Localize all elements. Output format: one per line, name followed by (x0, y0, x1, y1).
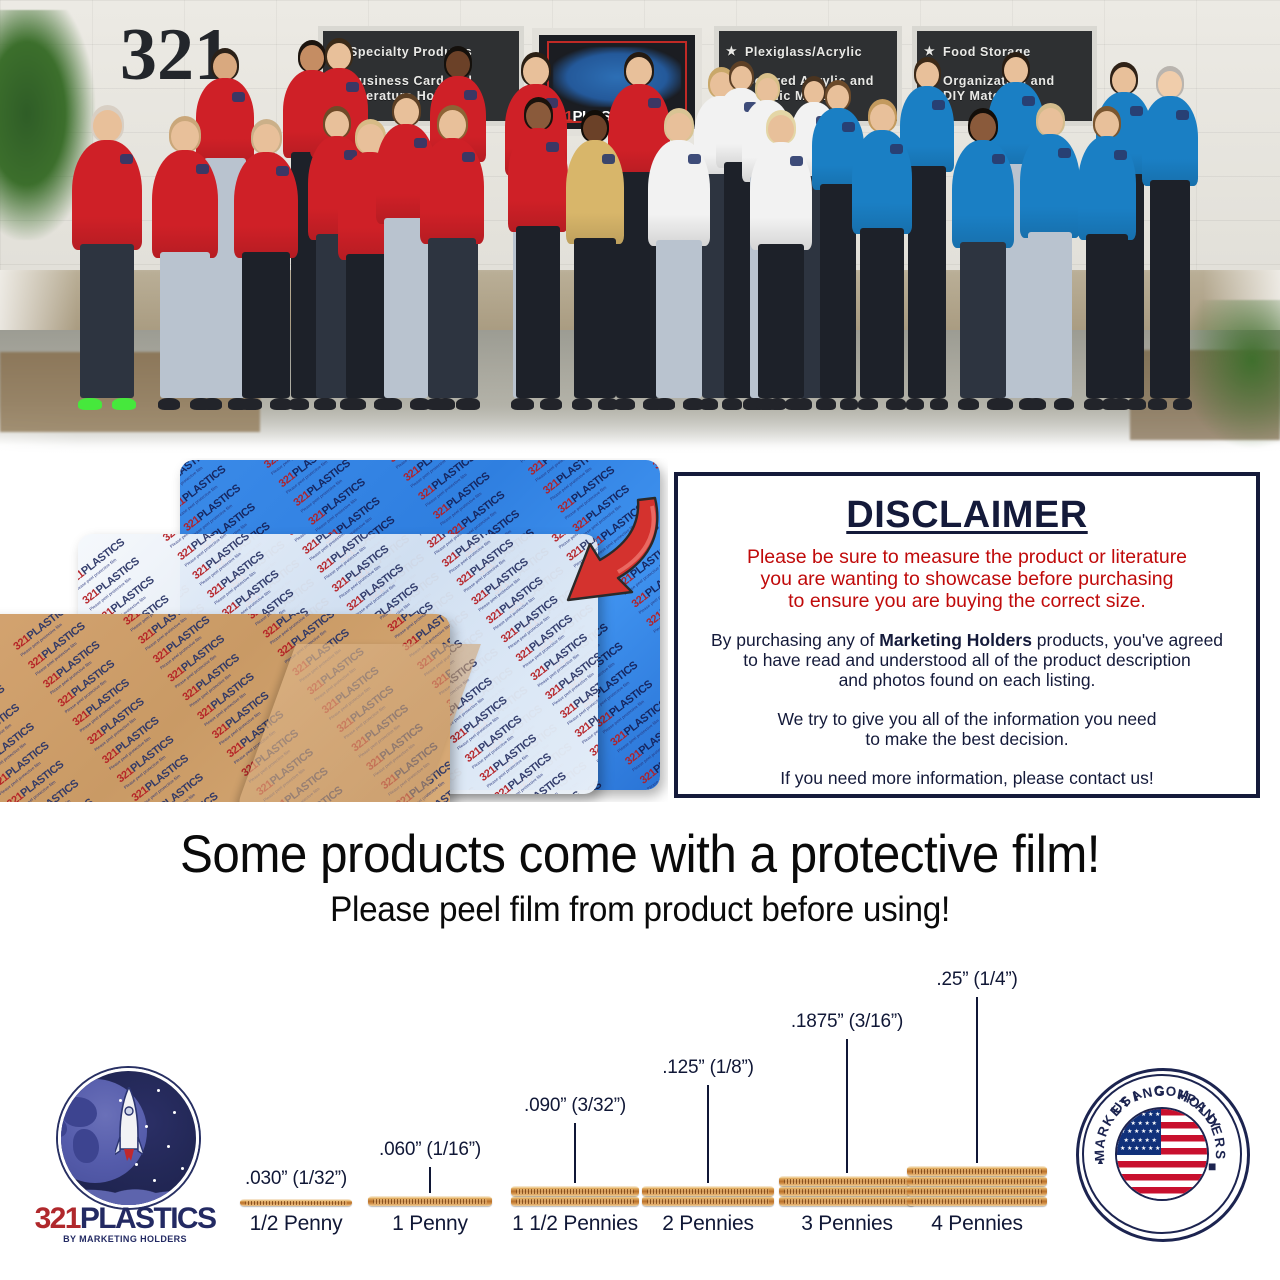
person-legs (758, 244, 804, 398)
watermark-text: 321PLASTICSPlease peel protective film (180, 460, 237, 503)
watermark-text: 321PLASTICSPlease peel protective film (277, 460, 362, 497)
person-head (300, 45, 324, 72)
person-shoe (190, 398, 212, 410)
watermark-text: 321PLASTICSPlease peel protective film (523, 775, 598, 794)
person-legs (428, 238, 476, 398)
person-head (446, 51, 470, 78)
person-shoe (542, 398, 562, 410)
disclaimer-red-text: Please be sure to measure the product or… (694, 546, 1240, 612)
shirt-logo-icon (1114, 150, 1127, 160)
watermark-text: 321PLASTICSPlease peel protective film (145, 758, 230, 802)
watermark-text: 321PLASTICSPlease peel protective film (463, 700, 548, 772)
shirt-logo-icon (462, 152, 475, 162)
shirt-logo-icon (1130, 106, 1143, 116)
watermark-text: 321PLASTICSPlease peel protective film (20, 764, 105, 802)
watermark-text: 321PLASTICSPlease peel protective film (386, 614, 450, 642)
shirt-logo-icon (232, 92, 245, 102)
penny-coin (642, 1186, 774, 1196)
shirt-logo-icon (196, 164, 209, 174)
watermark-text: 321PLASTICSPlease peel protective film (470, 542, 555, 614)
watermark-text: 321PLASTICSPlease peel protective film (529, 618, 598, 690)
watermark-text: 321PLASTICSPlease peel protective film (651, 460, 660, 479)
leader-line (976, 997, 978, 1163)
person-head (171, 121, 199, 152)
watermark-text: 321PLASTICSPlease peel protective film (653, 740, 660, 790)
watermark-text: 321PLASTICSPlease peel protective film (594, 665, 660, 737)
person-legs (1086, 234, 1128, 398)
penny-coin (779, 1186, 915, 1196)
person-head (731, 66, 752, 90)
watermark-text: 321PLASTICSPlease peel protective film (247, 614, 332, 629)
watermark-text: 321PLASTICSPlease peel protective film (191, 534, 276, 589)
watermark-text: 321PLASTICSPlease peel protective film (638, 721, 660, 790)
disclaimer-paragraph-contact: If you need more information, please con… (694, 768, 1240, 788)
person-head (916, 62, 939, 88)
shirt-logo-icon (464, 90, 477, 100)
watermark-text: 321PLASTICSPlease peel protective film (27, 614, 112, 679)
penny-coin (779, 1176, 915, 1186)
watermark-text: 321PLASTICSPlease peel protective film (301, 534, 386, 564)
person-shoe (158, 398, 180, 410)
shirt-logo-icon (546, 142, 559, 152)
watermark-text: 321PLASTICSPlease peel protective film (161, 534, 246, 551)
watermark-text: 321PLASTICSPlease peel protective film (180, 460, 223, 484)
person-legs (860, 228, 904, 398)
person-head (1038, 108, 1063, 136)
watermark-text: 321PLASTICSPlease peel protective film (512, 460, 597, 466)
person-shoe (818, 398, 836, 410)
watermark-text: 321PLASTICSPlease peel protective film (411, 534, 496, 539)
watermark-text: 321PLASTICSPlease peel protective film (261, 614, 346, 648)
coin-group: .1875” (3/16”)3 Pennies (779, 1177, 915, 1206)
person-head (93, 110, 122, 142)
coin-group: .25” (1/4”)4 Pennies (907, 1167, 1047, 1206)
watermark-text: 321PLASTICSPlease peel protective film (12, 614, 97, 660)
watermark-text: 321PLASTICSPlease peel protective film (0, 726, 76, 798)
leader-line (707, 1085, 709, 1183)
coin-count-label: 1/2 Penny (250, 1212, 343, 1236)
coin-count-label: 1 1/2 Pennies (512, 1212, 638, 1236)
person-shoe (112, 398, 136, 410)
watermark-text: 321PLASTICSPlease peel protective film (345, 548, 430, 620)
seal-bottom-char: O (1166, 1084, 1178, 1099)
person-shoe (886, 398, 906, 410)
person-head (1158, 71, 1182, 98)
shirt-logo-icon (648, 98, 661, 108)
coin-stack (907, 1167, 1047, 1206)
watermark-text: 321PLASTICSPlease peel protective film (78, 534, 151, 595)
disclaimer-paragraph-agreement: By purchasing any of Marketing Holders p… (694, 630, 1240, 690)
watermark-text: 321PLASTICSPlease peel protective film (559, 656, 598, 728)
watermark-text: 321PLASTICSPlease peel protective film (86, 682, 171, 754)
person-legs (960, 242, 1006, 398)
person-head (327, 43, 351, 70)
person-legs (242, 252, 290, 398)
person-shoe (654, 398, 675, 410)
person-shoe (683, 398, 704, 410)
penny-coin (779, 1196, 915, 1206)
watermark-text: 321PLASTICSPlease peel protective film (371, 614, 450, 623)
shirt-logo-icon (414, 138, 427, 148)
watermark-text: 321PLASTICSPlease peel protective film (609, 683, 660, 755)
person-shoe (858, 398, 878, 410)
coin-thickness-label: .060” (1/16”) (379, 1139, 481, 1161)
leader-line (429, 1167, 431, 1193)
person-shoe (270, 398, 292, 410)
watermark-text: 321PLASTICSPlease peel protective film (485, 561, 570, 633)
person-head (970, 113, 996, 142)
watermark-text: 321PLASTICSPlease peel protective film (42, 625, 127, 697)
watermark-text: 321PLASTICSPlease peel protective film (455, 534, 540, 596)
person-shoe (722, 398, 739, 410)
person-head (666, 113, 692, 142)
watermark-text: 321PLASTICSPlease peel protective film (493, 738, 578, 794)
person-shoe (426, 398, 448, 410)
coin-count-label: 1 Penny (392, 1212, 468, 1236)
person-legs (908, 166, 946, 398)
watermark-text: 321PLASTICSPlease peel protective film (478, 719, 563, 791)
person-head (1004, 57, 1028, 84)
penny-coin (907, 1186, 1047, 1196)
person-shoe (987, 398, 1008, 410)
star-icon: ★ (726, 44, 737, 59)
person-head (325, 111, 349, 138)
person-shoe (1054, 398, 1074, 410)
person-torso (196, 78, 254, 164)
watermark-text: 321PLASTICSPlease peel protective film (402, 460, 487, 491)
person-shoe (598, 398, 618, 410)
watermark-text: 321PLASTICSPlease peel protective film (176, 534, 261, 570)
person-legs (160, 252, 210, 398)
headline-primary: Some products come with a protective fil… (45, 824, 1235, 886)
coin-count-label: 3 Pennies (801, 1212, 893, 1236)
sign-line: ★Plexiglass/Acrylic (719, 45, 897, 60)
watermark-text: 321PLASTICSPlease peel protective film (0, 669, 31, 741)
penny-coin (907, 1166, 1047, 1176)
watermark-text: 321PLASTICSPlease peel protective film (588, 694, 598, 766)
penny-coin (368, 1196, 492, 1206)
person-head (768, 115, 794, 144)
person-shoe (344, 398, 366, 410)
seal-top-char: A (1092, 1136, 1108, 1149)
photo-background: 321 ★Specialty Products ★Business Card a… (0, 0, 1280, 455)
watermark-text: 321PLASTICSPlease peel protective film (307, 463, 392, 535)
person-head (394, 98, 419, 126)
watermark-text: 321PLASTICSPlease peel protective film (573, 675, 598, 747)
person-head (253, 124, 280, 154)
person-legs (516, 226, 560, 398)
leader-line (574, 1123, 576, 1183)
shirt-logo-icon (1022, 96, 1035, 106)
headline-block: Some products come with a protective fil… (0, 824, 1280, 932)
person-legs (384, 218, 428, 398)
disclaimer-title: DISCLAIMER (694, 494, 1240, 537)
logo-321-plastics: 321PLASTICS BY MARKETING HOLDERS (30, 1068, 220, 1248)
coin-group: .030” (1/32”)1/2 Penny (240, 1200, 352, 1206)
person-shoe (1110, 398, 1130, 410)
logo-marketing-holders: ★★★★★★★★★★★★★★★★★★★★★★★★★★★★ MARKETING H… (1068, 1068, 1252, 1248)
rocket-globe-icon (58, 1068, 199, 1208)
shirt-logo-icon (688, 154, 701, 164)
person-legs (574, 238, 616, 398)
shirt-logo-icon (790, 156, 803, 166)
person-head (626, 57, 652, 86)
watermark-text: 321PLASTICSPlease peel protective film (0, 650, 16, 722)
person-shoe (456, 398, 478, 410)
penny-coin (907, 1176, 1047, 1186)
disclaimer-box: DISCLAIMER Please be sure to measure the… (674, 472, 1260, 798)
person-legs (656, 240, 702, 398)
shirt-logo-icon (1176, 110, 1189, 120)
watermark-text: 321PLASTICSPlease peel protective film (544, 637, 598, 709)
person-shoe (572, 398, 592, 410)
coin-thickness-label: .030” (1/32”) (245, 1168, 347, 1190)
coin-stack (240, 1200, 352, 1206)
person-shoe (756, 398, 777, 410)
person-head (870, 104, 895, 132)
person-legs (1150, 180, 1190, 398)
coin-count-label: 4 Pennies (931, 1212, 1023, 1236)
watermark-text: 321PLASTICSPlease peel protective film (508, 756, 593, 794)
watermark-text: 321PLASTICSPlease peel protective film (387, 460, 472, 472)
seal-top-char: R (1212, 1136, 1228, 1149)
watermark-text: 321PLASTICSPlease peel protective film (107, 614, 192, 616)
shirt-logo-icon (890, 144, 903, 154)
watermark-text: 321PLASTICSPlease peel protective film (624, 702, 660, 774)
watermark-text: 321PLASTICSPlease peel protective film (440, 534, 525, 577)
usa-map-small-icon: ■ (1208, 1158, 1216, 1174)
person-head (1095, 111, 1119, 138)
seal-curved-text: MARKETING HOLDERSUSA COMPANY (1076, 1068, 1244, 1236)
watermark-text: 321PLASTICSPlease peel protective film (81, 542, 166, 614)
person-torso (566, 140, 624, 244)
person-shoe (840, 398, 858, 410)
person-shoe (1084, 398, 1104, 410)
coin-stack (779, 1177, 915, 1206)
watermark-text: 321PLASTICSPlease peel protective film (151, 614, 236, 673)
coin-stack (511, 1187, 639, 1206)
person-shoe (1026, 398, 1046, 410)
headline-secondary: Please peel film from product before usi… (32, 888, 1248, 932)
person-torso (1142, 96, 1198, 186)
penny-coin (240, 1199, 352, 1206)
coin-count-label: 2 Pennies (662, 1212, 754, 1236)
shirt-logo-icon (346, 82, 359, 92)
shirt-logo-icon (992, 154, 1005, 164)
person-torso (508, 128, 568, 232)
watermark-text: 321PLASTICSPlease peel protective film (166, 619, 251, 691)
penny-coin (907, 1196, 1047, 1206)
person-shoe (1148, 398, 1167, 410)
person-shoe (1173, 398, 1192, 410)
watermark-text: 321PLASTICSPlease peel protective film (35, 783, 120, 802)
shirt-logo-icon (842, 122, 855, 132)
person-head (213, 53, 237, 80)
watermark-text: 321PLASTICSPlease peel protective film (182, 469, 267, 541)
logo-byline: BY MARKETING HOLDERS (30, 1234, 220, 1244)
shirt-logo-icon (602, 154, 615, 164)
watermark-text: 321PLASTICSPlease peel protective film (206, 536, 291, 608)
peel-direction-arrow (560, 492, 666, 610)
person-shoe (958, 398, 979, 410)
person-torso (1020, 134, 1080, 238)
watermark-text: 321PLASTICSPlease peel protective film (56, 644, 141, 716)
watermark-text: 321PLASTICSPlease peel protective film (71, 663, 156, 735)
person-shoe (930, 398, 948, 410)
coin-thickness-label: .090” (3/32”) (524, 1095, 626, 1117)
person-head (804, 81, 824, 104)
person-head (583, 115, 607, 142)
team-group-photo: 321 ★Specialty Products ★Business Card a… (0, 0, 1280, 455)
coin-thickness-label: .25” (1/4”) (936, 969, 1017, 991)
watermark-text: 321PLASTICSPlease peel protective film (181, 638, 266, 710)
person-head (1112, 67, 1136, 94)
watermark-text: 321PLASTICSPlease peel protective film (130, 739, 215, 802)
shirt-logo-icon (932, 100, 945, 110)
watermark-text: 321PLASTICSPlease peel protective film (292, 460, 377, 516)
watermark-text: 321PLASTICSPlease peel protective film (122, 614, 207, 635)
rocket-icon (115, 1087, 143, 1173)
shirt-logo-icon (276, 166, 289, 176)
watermark-text: 321PLASTICSPlease peel protective film (160, 777, 245, 802)
coin-group: .090” (3/32”)1 1/2 Pennies (511, 1187, 639, 1206)
watermark-text: 321PLASTICSPlease peel protective film (101, 701, 186, 773)
watermark-text: 321PLASTICSPlease peel protective film (0, 688, 46, 760)
shirt-logo-icon (120, 154, 133, 164)
person-shoe (382, 398, 402, 410)
coin-thickness-label: .1875” (3/16”) (791, 1011, 903, 1033)
logo-wordmark: 321PLASTICS (30, 1204, 220, 1234)
person-head (439, 110, 466, 140)
watermark-text: 321PLASTICSPlease peel protective film (426, 534, 511, 558)
watermark-text: 321PLASTICSPlease peel protective film (417, 460, 502, 510)
coin-thickness-label: .125” (1/8”) (662, 1057, 754, 1079)
watermark-text: 321PLASTICSPlease peel protective film (115, 720, 200, 792)
person-head (526, 102, 551, 130)
disclaimer-paragraph-info: We try to give you all of the informatio… (694, 709, 1240, 749)
person-shoe (78, 398, 102, 410)
rocket-small-icon: ▲ (1096, 1156, 1105, 1166)
watermark-text: 321PLASTICSPlease peel protective film (286, 534, 371, 545)
person-legs (80, 244, 134, 398)
watermark-text: 321PLASTICSPlease peel protective film (330, 534, 415, 602)
person-head (757, 78, 778, 102)
person-shoe (240, 398, 262, 410)
person-head (523, 57, 549, 86)
penny-coin (511, 1186, 639, 1196)
penny-coin (642, 1196, 774, 1206)
watermark-text: 321PLASTICSPlease peel protective film (527, 460, 612, 485)
leader-line (846, 1039, 848, 1173)
plant-right (1180, 300, 1280, 450)
person-shoe (514, 398, 534, 410)
watermark-text: 321PLASTICSPlease peel protective film (0, 707, 61, 779)
watermark-text: 321PLASTICSPlease peel protective film (263, 460, 348, 478)
shirt-logo-icon (1058, 148, 1071, 158)
coin-group: .125” (1/8”)2 Pennies (642, 1187, 774, 1206)
coin-group: .060” (1/16”)1 Penny (368, 1197, 492, 1206)
person-shoe (314, 398, 334, 410)
penny-coin (511, 1196, 639, 1206)
watermark-text: 321PLASTICSPlease peel protective film (180, 460, 252, 522)
person-shoe (785, 398, 806, 410)
person-head (827, 85, 849, 110)
marketing-holders-brand: Marketing Holders (879, 630, 1032, 650)
watermark-text: 321PLASTICSPlease peel protective film (316, 534, 401, 583)
coin-stack (642, 1187, 774, 1206)
watermark-text: 321PLASTICSPlease peel protective film (432, 460, 517, 529)
watermark-text: 321PLASTICSPlease peel protective film (137, 614, 222, 654)
person-legs (1028, 232, 1072, 398)
watermark-text: 321PLASTICSPlease peel protective film (5, 745, 90, 802)
person-shoe (906, 398, 924, 410)
coin-stack (368, 1197, 492, 1206)
person-legs (820, 184, 856, 398)
person-torso (1078, 136, 1136, 240)
person-torso (852, 130, 912, 234)
